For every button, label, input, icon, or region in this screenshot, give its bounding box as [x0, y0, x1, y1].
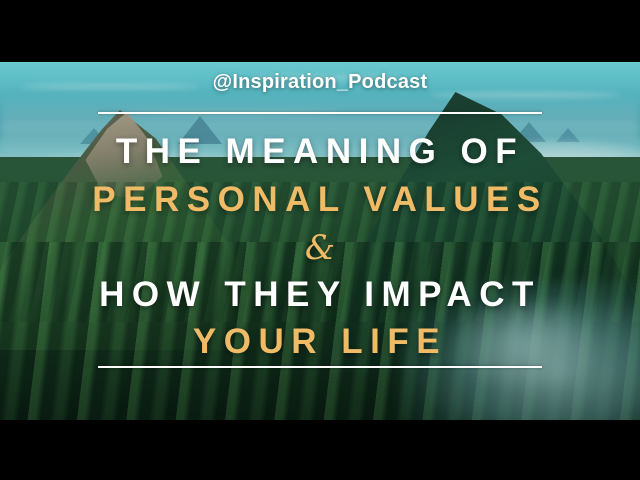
divider-top [98, 112, 542, 114]
letterbox-top [0, 0, 640, 62]
ampersand-ornament: & [0, 228, 640, 268]
title-line-3: HOW THEY IMPACT [0, 275, 640, 315]
title-line-4: YOUR LIFE [0, 322, 640, 362]
title-line-1: THE MEANING OF [0, 132, 640, 172]
letterbox-bottom [0, 420, 640, 480]
divider-bottom [98, 366, 542, 368]
text-overlay: @Inspiration_Podcast THE MEANING OF PERS… [0, 0, 640, 480]
channel-handle: @Inspiration_Podcast [0, 71, 640, 94]
title-line-2: PERSONAL VALUES [0, 180, 640, 220]
video-thumbnail: @Inspiration_Podcast THE MEANING OF PERS… [0, 0, 640, 480]
